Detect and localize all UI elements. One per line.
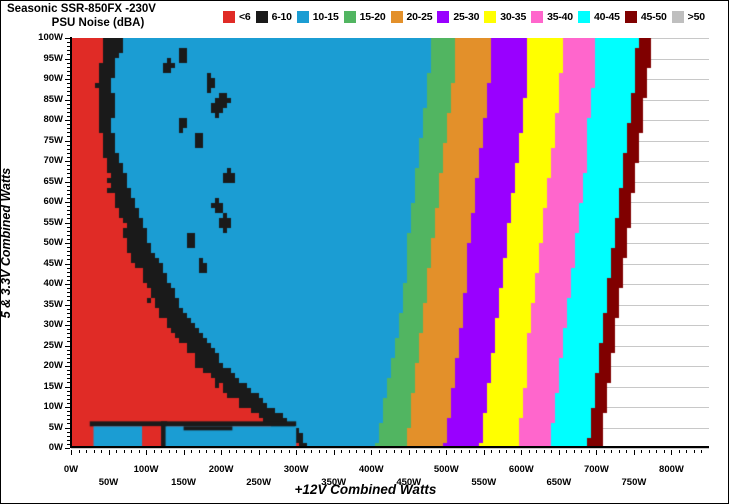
y-minor-tick-mark bbox=[67, 136, 70, 137]
x-minor-tick-mark bbox=[379, 450, 380, 453]
x-minor-tick-mark bbox=[544, 450, 545, 453]
legend-swatch bbox=[344, 11, 356, 23]
y-minor-tick-mark bbox=[67, 54, 70, 55]
y-tick-label: 45W bbox=[17, 258, 63, 269]
x-minor-tick-mark bbox=[311, 450, 312, 453]
y-tick-label: 70W bbox=[17, 155, 63, 166]
y-tick-mark bbox=[65, 428, 70, 429]
y-minor-tick-mark bbox=[67, 198, 70, 199]
y-minor-tick-mark bbox=[67, 50, 70, 51]
y-minor-tick-mark bbox=[67, 444, 70, 445]
x-tick-mark bbox=[596, 450, 597, 455]
y-tick-label: 95W bbox=[17, 53, 63, 64]
y-minor-tick-mark bbox=[67, 239, 70, 240]
y-minor-tick-mark bbox=[67, 206, 70, 207]
y-minor-tick-mark bbox=[67, 333, 70, 334]
x-minor-tick-mark bbox=[469, 450, 470, 453]
x-minor-tick-mark bbox=[131, 450, 132, 453]
legend-swatch bbox=[223, 11, 235, 23]
y-minor-tick-mark bbox=[67, 268, 70, 269]
x-minor-tick-mark bbox=[266, 450, 267, 453]
x-minor-tick-mark bbox=[626, 450, 627, 453]
legend-swatch bbox=[625, 11, 637, 23]
x-minor-tick-mark bbox=[431, 450, 432, 453]
y-tick-label: 65W bbox=[17, 176, 63, 187]
x-tick-mark bbox=[221, 450, 222, 455]
y-minor-tick-mark bbox=[67, 46, 70, 47]
x-minor-tick-mark bbox=[169, 450, 170, 453]
y-minor-tick-mark bbox=[67, 288, 70, 289]
x-minor-tick-mark bbox=[206, 450, 207, 453]
y-tick-label: 30W bbox=[17, 319, 63, 330]
y-minor-tick-mark bbox=[67, 440, 70, 441]
y-minor-tick-mark bbox=[67, 280, 70, 281]
y-minor-tick-mark bbox=[67, 157, 70, 158]
x-tick-label: 600W bbox=[491, 464, 551, 475]
y-minor-tick-mark bbox=[67, 313, 70, 314]
chart-header: Seasonic SSR-850FX -230V PSU Noise (dBA)… bbox=[1, 1, 729, 31]
y-tick-mark bbox=[65, 346, 70, 347]
x-minor-tick-mark bbox=[649, 450, 650, 453]
y-minor-tick-mark bbox=[67, 42, 70, 43]
y-minor-tick-mark bbox=[67, 374, 70, 375]
y-minor-tick-mark bbox=[67, 300, 70, 301]
x-minor-tick-mark bbox=[289, 450, 290, 453]
y-tick-mark bbox=[65, 325, 70, 326]
y-minor-tick-mark bbox=[67, 149, 70, 150]
y-minor-tick-mark bbox=[67, 296, 70, 297]
x-minor-tick-mark bbox=[341, 450, 342, 453]
y-tick-label: 55W bbox=[17, 217, 63, 228]
y-minor-tick-mark bbox=[67, 382, 70, 383]
y-minor-tick-mark bbox=[67, 214, 70, 215]
y-minor-tick-mark bbox=[67, 321, 70, 322]
x-minor-tick-mark bbox=[161, 450, 162, 453]
y-minor-tick-mark bbox=[67, 83, 70, 84]
y-minor-tick-mark bbox=[67, 432, 70, 433]
legend-swatch bbox=[484, 11, 496, 23]
y-minor-tick-mark bbox=[67, 362, 70, 363]
y-minor-tick-mark bbox=[67, 145, 70, 146]
y-minor-tick-mark bbox=[67, 75, 70, 76]
y-minor-tick-mark bbox=[67, 378, 70, 379]
y-tick-mark bbox=[65, 243, 70, 244]
legend-item: 25-30 bbox=[437, 9, 479, 24]
x-minor-tick-mark bbox=[199, 450, 200, 453]
x-minor-tick-mark bbox=[424, 450, 425, 453]
y-minor-tick-mark bbox=[67, 91, 70, 92]
x-minor-tick-mark bbox=[551, 450, 552, 453]
y-minor-tick-mark bbox=[67, 165, 70, 166]
x-tick-mark bbox=[671, 450, 672, 455]
x-minor-tick-mark bbox=[274, 450, 275, 453]
heatmap-canvas bbox=[71, 38, 709, 448]
legend-swatch bbox=[391, 11, 403, 23]
x-minor-tick-mark bbox=[679, 450, 680, 453]
legend-swatch bbox=[672, 11, 684, 23]
x-tick-mark bbox=[184, 450, 185, 455]
y-tick-label: 80W bbox=[17, 114, 63, 125]
y-minor-tick-mark bbox=[67, 67, 70, 68]
x-minor-tick-mark bbox=[574, 450, 575, 453]
y-minor-tick-mark bbox=[67, 124, 70, 125]
x-tick-mark bbox=[446, 450, 447, 455]
x-minor-tick-mark bbox=[619, 450, 620, 453]
x-tick-label: 700W bbox=[566, 464, 626, 475]
legend-item: 15-20 bbox=[344, 9, 386, 24]
x-minor-tick-mark bbox=[364, 450, 365, 453]
x-minor-tick-mark bbox=[319, 450, 320, 453]
y-tick-label: 50W bbox=[17, 237, 63, 248]
legend-label: 40-45 bbox=[594, 11, 620, 23]
x-axis-title: +12V Combined Watts bbox=[1, 482, 729, 497]
y-tick-mark bbox=[65, 182, 70, 183]
y-minor-tick-mark bbox=[67, 292, 70, 293]
x-minor-tick-mark bbox=[514, 450, 515, 453]
legend-label: 25-30 bbox=[453, 11, 479, 23]
x-minor-tick-mark bbox=[94, 450, 95, 453]
y-minor-tick-mark bbox=[67, 235, 70, 236]
y-minor-tick-mark bbox=[67, 210, 70, 211]
legend-label: 10-15 bbox=[313, 11, 339, 23]
chart-title-line1: Seasonic SSR-850FX -230V bbox=[7, 2, 237, 16]
x-tick-label: 100W bbox=[116, 464, 176, 475]
x-minor-tick-mark bbox=[236, 450, 237, 453]
y-minor-tick-mark bbox=[67, 415, 70, 416]
y-tick-label: 100W bbox=[17, 32, 63, 43]
y-tick-label: 60W bbox=[17, 196, 63, 207]
y-minor-tick-mark bbox=[67, 391, 70, 392]
y-minor-tick-mark bbox=[67, 194, 70, 195]
y-minor-tick-mark bbox=[67, 71, 70, 72]
x-minor-tick-mark bbox=[304, 450, 305, 453]
y-minor-tick-mark bbox=[67, 231, 70, 232]
x-minor-tick-mark bbox=[656, 450, 657, 453]
y-tick-mark bbox=[65, 59, 70, 60]
y-minor-tick-mark bbox=[67, 128, 70, 129]
x-tick-label: 500W bbox=[416, 464, 476, 475]
y-minor-tick-mark bbox=[67, 173, 70, 174]
y-axis-title: 5 & 3.3V Combined Watts bbox=[0, 163, 13, 323]
x-tick-mark bbox=[334, 450, 335, 455]
y-minor-tick-mark bbox=[67, 411, 70, 412]
x-tick-mark bbox=[559, 450, 560, 455]
x-minor-tick-mark bbox=[536, 450, 537, 453]
legend-item: 30-35 bbox=[484, 9, 526, 24]
x-minor-tick-mark bbox=[79, 450, 80, 453]
x-minor-tick-mark bbox=[604, 450, 605, 453]
legend-item: 45-50 bbox=[625, 9, 667, 24]
y-tick-label: 15W bbox=[17, 381, 63, 392]
chart-root: Seasonic SSR-850FX -230V PSU Noise (dBA)… bbox=[1, 1, 728, 503]
x-minor-tick-mark bbox=[356, 450, 357, 453]
y-minor-tick-mark bbox=[67, 395, 70, 396]
y-minor-tick-mark bbox=[67, 132, 70, 133]
y-minor-tick-mark bbox=[67, 317, 70, 318]
legend-item: 10-15 bbox=[297, 9, 339, 24]
x-minor-tick-mark bbox=[581, 450, 582, 453]
legend-item: >50 bbox=[672, 9, 705, 24]
x-minor-tick-mark bbox=[394, 450, 395, 453]
x-minor-tick-mark bbox=[244, 450, 245, 453]
legend-label: 45-50 bbox=[641, 11, 667, 23]
y-minor-tick-mark bbox=[67, 108, 70, 109]
x-minor-tick-mark bbox=[386, 450, 387, 453]
y-tick-mark bbox=[65, 202, 70, 203]
y-minor-tick-mark bbox=[67, 350, 70, 351]
y-tick-label: 0W bbox=[17, 442, 63, 453]
x-minor-tick-mark bbox=[686, 450, 687, 453]
x-tick-mark bbox=[109, 450, 110, 455]
x-minor-tick-mark bbox=[694, 450, 695, 453]
y-minor-tick-mark bbox=[67, 116, 70, 117]
legend-label: 30-35 bbox=[500, 11, 526, 23]
x-minor-tick-mark bbox=[281, 450, 282, 453]
y-tick-label: 85W bbox=[17, 94, 63, 105]
y-tick-label: 40W bbox=[17, 278, 63, 289]
x-minor-tick-mark bbox=[491, 450, 492, 453]
x-tick-mark bbox=[259, 450, 260, 455]
x-minor-tick-mark bbox=[506, 450, 507, 453]
x-tick-mark bbox=[409, 450, 410, 455]
x-tick-mark bbox=[71, 450, 72, 455]
y-tick-label: 25W bbox=[17, 340, 63, 351]
y-minor-tick-mark bbox=[67, 63, 70, 64]
x-minor-tick-mark bbox=[349, 450, 350, 453]
y-minor-tick-mark bbox=[67, 186, 70, 187]
x-tick-mark bbox=[296, 450, 297, 455]
x-tick-label: 400W bbox=[341, 464, 401, 475]
plot-area bbox=[71, 38, 709, 448]
x-minor-tick-mark bbox=[461, 450, 462, 453]
y-minor-tick-mark bbox=[67, 272, 70, 273]
x-tick-label: 200W bbox=[191, 464, 251, 475]
legend: <66-1010-1515-2020-2525-3030-3535-4040-4… bbox=[223, 9, 710, 24]
x-minor-tick-mark bbox=[176, 450, 177, 453]
x-minor-tick-mark bbox=[611, 450, 612, 453]
y-tick-mark bbox=[65, 407, 70, 408]
y-tick-mark bbox=[65, 100, 70, 101]
gridline bbox=[71, 448, 709, 449]
x-minor-tick-mark bbox=[214, 450, 215, 453]
y-minor-tick-mark bbox=[67, 251, 70, 252]
x-minor-tick-mark bbox=[154, 450, 155, 453]
x-minor-tick-mark bbox=[439, 450, 440, 453]
legend-label: 15-20 bbox=[360, 11, 386, 23]
legend-swatch bbox=[531, 11, 543, 23]
legend-swatch bbox=[437, 11, 449, 23]
y-minor-tick-mark bbox=[67, 177, 70, 178]
y-minor-tick-mark bbox=[67, 329, 70, 330]
y-minor-tick-mark bbox=[67, 87, 70, 88]
x-tick-label: 800W bbox=[641, 464, 701, 475]
x-minor-tick-mark bbox=[191, 450, 192, 453]
y-minor-tick-mark bbox=[67, 112, 70, 113]
x-minor-tick-mark bbox=[139, 450, 140, 453]
x-tick-label: 0W bbox=[41, 464, 101, 475]
y-tick-mark bbox=[65, 223, 70, 224]
y-minor-tick-mark bbox=[67, 419, 70, 420]
y-tick-label: 20W bbox=[17, 360, 63, 371]
y-minor-tick-mark bbox=[67, 259, 70, 260]
legend-swatch bbox=[297, 11, 309, 23]
x-minor-tick-mark bbox=[589, 450, 590, 453]
y-minor-tick-mark bbox=[67, 276, 70, 277]
y-tick-mark bbox=[65, 264, 70, 265]
legend-item: 6-10 bbox=[256, 9, 292, 24]
y-minor-tick-mark bbox=[67, 95, 70, 96]
legend-item: <6 bbox=[223, 9, 251, 24]
legend-label: 6-10 bbox=[272, 11, 292, 23]
y-minor-tick-mark bbox=[67, 370, 70, 371]
y-tick-mark bbox=[65, 284, 70, 285]
y-minor-tick-mark bbox=[67, 358, 70, 359]
x-minor-tick-mark bbox=[251, 450, 252, 453]
y-tick-mark bbox=[65, 161, 70, 162]
legend-item: 20-25 bbox=[391, 9, 433, 24]
x-tick-mark bbox=[371, 450, 372, 455]
y-minor-tick-mark bbox=[67, 247, 70, 248]
y-tick-label: 90W bbox=[17, 73, 63, 84]
y-tick-label: 35W bbox=[17, 299, 63, 310]
x-minor-tick-mark bbox=[476, 450, 477, 453]
legend-label: 20-25 bbox=[407, 11, 433, 23]
y-tick-mark bbox=[65, 387, 70, 388]
x-minor-tick-mark bbox=[416, 450, 417, 453]
x-minor-tick-mark bbox=[566, 450, 567, 453]
chart-title-line2: PSU Noise (dBA) bbox=[7, 16, 237, 30]
y-minor-tick-mark bbox=[67, 403, 70, 404]
x-minor-tick-mark bbox=[401, 450, 402, 453]
x-minor-tick-mark bbox=[124, 450, 125, 453]
y-tick-mark bbox=[65, 305, 70, 306]
y-minor-tick-mark bbox=[67, 169, 70, 170]
x-minor-tick-mark bbox=[641, 450, 642, 453]
x-minor-tick-mark bbox=[86, 450, 87, 453]
legend-swatch bbox=[256, 11, 268, 23]
y-minor-tick-mark bbox=[67, 227, 70, 228]
y-tick-label: 75W bbox=[17, 135, 63, 146]
x-tick-mark bbox=[521, 450, 522, 455]
x-minor-tick-mark bbox=[499, 450, 500, 453]
y-minor-tick-mark bbox=[67, 153, 70, 154]
y-minor-tick-mark bbox=[67, 104, 70, 105]
legend-label: 35-40 bbox=[547, 11, 573, 23]
y-minor-tick-mark bbox=[67, 337, 70, 338]
x-tick-label: 300W bbox=[266, 464, 326, 475]
x-tick-mark bbox=[146, 450, 147, 455]
y-tick-mark bbox=[65, 366, 70, 367]
y-tick-label: 10W bbox=[17, 401, 63, 412]
legend-label: >50 bbox=[688, 11, 705, 23]
y-tick-mark bbox=[65, 38, 70, 39]
legend-swatch bbox=[578, 11, 590, 23]
y-minor-tick-mark bbox=[67, 255, 70, 256]
x-minor-tick-mark bbox=[529, 450, 530, 453]
y-minor-tick-mark bbox=[67, 354, 70, 355]
legend-label: <6 bbox=[239, 11, 251, 23]
y-tick-label: 5W bbox=[17, 422, 63, 433]
y-minor-tick-mark bbox=[67, 341, 70, 342]
x-minor-tick-mark bbox=[664, 450, 665, 453]
x-minor-tick-mark bbox=[454, 450, 455, 453]
x-minor-tick-mark bbox=[326, 450, 327, 453]
y-tick-mark bbox=[65, 79, 70, 80]
legend-item: 35-40 bbox=[531, 9, 573, 24]
x-minor-tick-mark bbox=[116, 450, 117, 453]
chart-title: Seasonic SSR-850FX -230V PSU Noise (dBA) bbox=[7, 2, 237, 30]
x-minor-tick-mark bbox=[229, 450, 230, 453]
y-minor-tick-mark bbox=[67, 423, 70, 424]
y-tick-mark bbox=[65, 141, 70, 142]
y-tick-mark bbox=[65, 120, 70, 121]
x-minor-tick-mark bbox=[701, 450, 702, 453]
x-minor-tick-mark bbox=[101, 450, 102, 453]
y-minor-tick-mark bbox=[67, 436, 70, 437]
legend-item: 40-45 bbox=[578, 9, 620, 24]
y-minor-tick-mark bbox=[67, 399, 70, 400]
y-minor-tick-mark bbox=[67, 309, 70, 310]
y-minor-tick-mark bbox=[67, 190, 70, 191]
y-tick-mark bbox=[65, 448, 70, 449]
x-tick-mark bbox=[484, 450, 485, 455]
y-minor-tick-mark bbox=[67, 218, 70, 219]
x-tick-mark bbox=[634, 450, 635, 455]
